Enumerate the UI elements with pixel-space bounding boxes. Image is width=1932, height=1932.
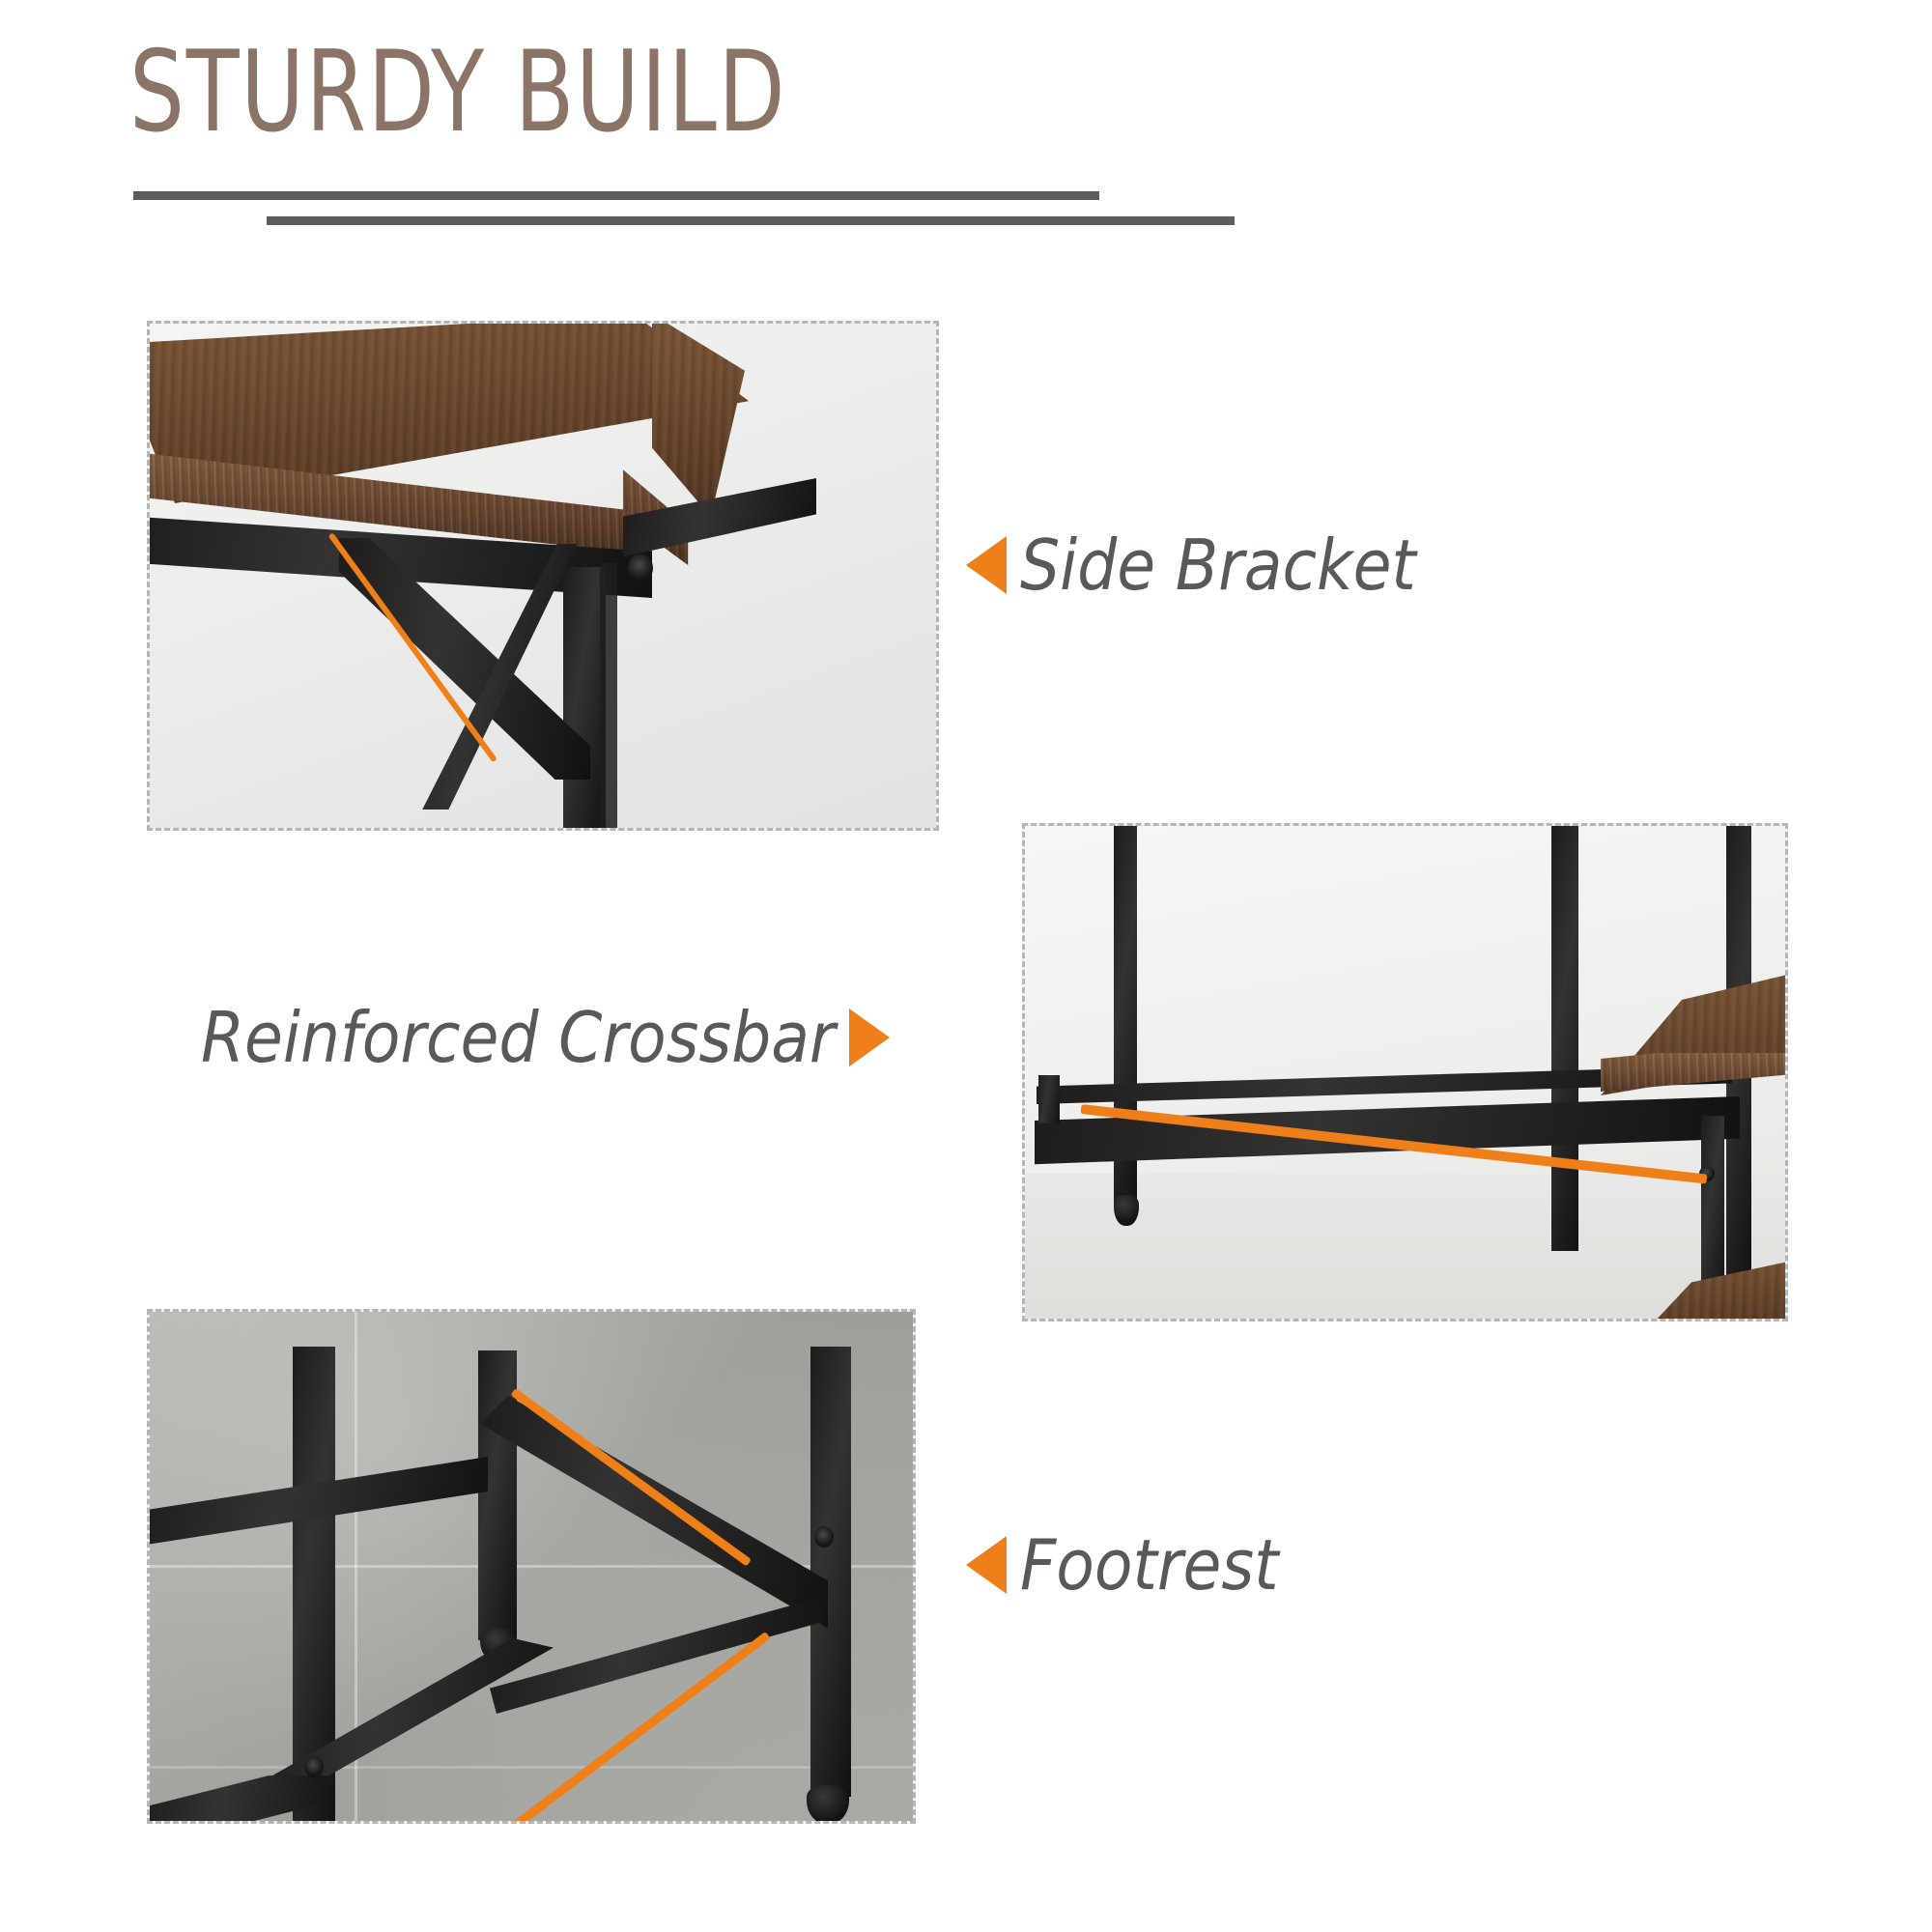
callout-side-bracket-label: Side Bracket: [1020, 525, 1416, 606]
tile-grout-horizontal-2: [150, 1766, 913, 1769]
crossbar-left-connector: [1038, 1075, 1060, 1123]
callout-side-bracket[interactable]: Side Bracket: [966, 525, 1416, 606]
footrest-leg-right: [810, 1347, 851, 1797]
footrest-screw-right-icon: [814, 1526, 834, 1548]
floor-band: [1025, 1174, 1785, 1319]
photo-side-bracket: [147, 321, 939, 831]
infographic-page: STURDY BUILD: [0, 0, 1932, 1932]
corner-screw-icon: [628, 554, 653, 582]
callout-footrest[interactable]: Footrest: [966, 1524, 1279, 1605]
footrest-screw-left-icon: [304, 1756, 324, 1777]
side-bracket-scene: [150, 324, 936, 828]
triangle-left-icon: [966, 536, 1007, 594]
title-rule-secondary: [267, 216, 1235, 225]
crossbar-scene: [1025, 826, 1785, 1319]
triangle-left-icon: [966, 1536, 1007, 1594]
triangle-right-icon: [849, 1009, 890, 1066]
callout-reinforced-crossbar[interactable]: Reinforced Crossbar: [201, 997, 890, 1078]
footrest-scene: [150, 1312, 913, 1821]
photo-footrest: [147, 1309, 916, 1824]
title-rule-primary: [133, 191, 1099, 200]
crossbar-leg-middle: [1551, 826, 1578, 1251]
callout-reinforced-crossbar-label: Reinforced Crossbar: [201, 997, 836, 1078]
callout-footrest-label: Footrest: [1020, 1524, 1279, 1605]
desk-leg-edge: [600, 563, 617, 831]
page-title: STURDY BUILD: [129, 37, 786, 149]
photo-reinforced-crossbar: [1022, 823, 1788, 1321]
